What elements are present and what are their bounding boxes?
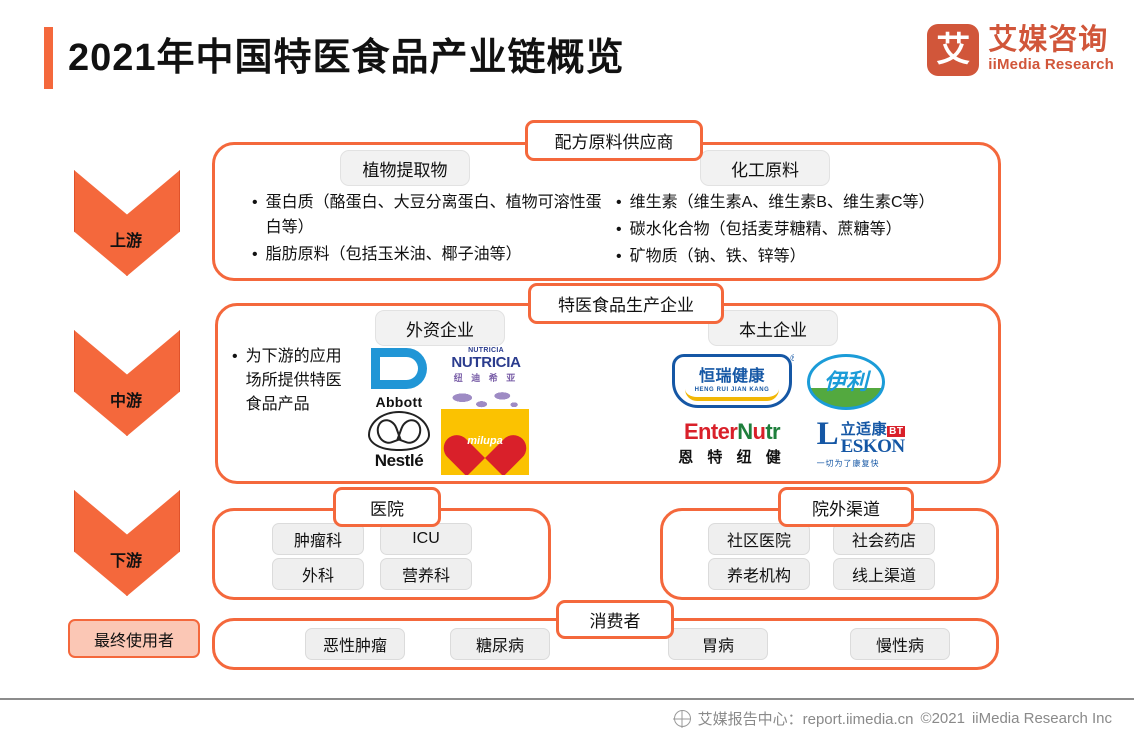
footer-content: 艾媒报告中心：report.iimedia.cn ©2021 iiMedia R… xyxy=(674,708,1112,729)
list-item: • 维生素（维生素A、维生素B、维生素C等） xyxy=(616,190,988,215)
yili-logo: 伊利 xyxy=(806,354,886,410)
chevron-down-icon xyxy=(74,490,180,596)
list-item-label: 脂肪原料（包括玉米油、椰子油等） xyxy=(266,242,604,267)
list-item[interactable]: 外科 xyxy=(272,558,364,590)
stage-chevron-downstream: 下游 xyxy=(74,490,178,594)
leskon-bt-badge: BT xyxy=(887,426,905,437)
leskon-name-cn-row: 立适康BT xyxy=(841,422,906,437)
registered-mark-icon: ® xyxy=(790,353,794,363)
list-item[interactable]: 糖尿病 xyxy=(450,628,550,660)
list-item: • 为下游的应用场所提供特医食品产品 xyxy=(232,345,342,417)
milupa-logo: milupa xyxy=(441,409,529,475)
leskon-slogan: 一切为了康复快 xyxy=(817,458,880,469)
abbott-logo: Abbott xyxy=(362,348,436,410)
bullet-dot-icon: • xyxy=(252,242,258,267)
upstream-badge: 配方原料供应商 xyxy=(525,120,703,161)
globe-map-icon xyxy=(449,386,523,412)
list-item: • 蛋白质（酪蛋白、大豆分离蛋白、植物可溶性蛋白等） xyxy=(252,190,604,240)
consumer-badge: 消费者 xyxy=(556,600,674,639)
brand-name-en: iiMedia Research xyxy=(988,56,1114,75)
page-title: 2021年中国特医食品产业链概览 xyxy=(68,28,625,88)
list-item[interactable]: 肿瘤科 xyxy=(272,523,364,555)
list-item[interactable]: 线上渠道 xyxy=(833,558,935,590)
stage-chevron-midstream: 中游 xyxy=(74,330,178,434)
bullet-dot-icon: • xyxy=(616,217,622,242)
yili-oval-icon: 伊利 xyxy=(807,354,885,410)
leskon-main-row: L 立适康BT ESKON xyxy=(817,422,906,456)
enternutr-logo: EnterNutr 恩 特 纽 健 xyxy=(662,418,802,470)
chevron-down-icon xyxy=(74,170,180,276)
list-item-label: 碳水化合物（包括麦芽糖精、蔗糖等） xyxy=(630,217,988,242)
stage-label-midstream: 中游 xyxy=(74,387,178,411)
heart-icon: milupa xyxy=(459,418,511,466)
hengrui-shield-icon: 恒瑞健康 HENG RUI JIAN KANG ® xyxy=(672,354,792,408)
leskon-initial: L xyxy=(817,422,839,448)
logo-mark-icon: 艾 xyxy=(927,24,979,76)
yili-name-cn: 伊利 xyxy=(824,371,868,393)
chevron-down-icon xyxy=(74,330,180,436)
list-item[interactable]: 营养科 xyxy=(380,558,472,590)
upstream-chemical-bullets: • 维生素（维生素A、维生素B、维生素C等） • 碳水化合物（包括麦芽糖精、蔗糖… xyxy=(616,190,988,271)
list-item-label: 蛋白质（酪蛋白、大豆分离蛋白、植物可溶性蛋白等） xyxy=(266,190,604,240)
list-item-label: 为下游的应用场所提供特医食品产品 xyxy=(246,345,342,417)
leskon-lockup: L 立适康BT ESKON 一切为了康复快 xyxy=(817,422,906,469)
milupa-tile: milupa xyxy=(441,409,529,475)
list-item-label: 矿物质（钠、铁、锌等） xyxy=(630,244,988,269)
enternutr-name-cn: 恩 特 纽 健 xyxy=(678,446,786,467)
hengrui-name-cn: 恒瑞健康 xyxy=(699,369,765,385)
nutricia-top-text: NUTRICIA xyxy=(468,347,504,354)
final-user-label: 最终使用者 xyxy=(68,619,200,658)
midstream-foreign-subhead: 外资企业 xyxy=(375,310,505,346)
list-item: • 脂肪原料（包括玉米油、椰子油等） xyxy=(252,242,604,267)
page-footer: 艾媒报告中心：report.iimedia.cn ©2021 iiMedia R… xyxy=(0,698,1134,737)
list-item[interactable]: 恶性肿瘤 xyxy=(305,628,405,660)
footer-site: 艾媒报告中心：report.iimedia.cn xyxy=(698,708,914,729)
list-item[interactable]: 社会药店 xyxy=(833,523,935,555)
nutricia-logo: NUTRICIA NUTRICIA 纽 迪 希 亚 xyxy=(444,344,528,414)
enternutr-lockup: EnterNutr 恩 特 纽 健 xyxy=(678,421,786,467)
bullet-dot-icon: • xyxy=(616,190,622,215)
midstream-badge: 特医食品生产企业 xyxy=(528,283,724,324)
milupa-wordmark: milupa xyxy=(459,435,511,447)
leskon-wordmark: ESKON xyxy=(841,437,906,456)
stage-label-downstream: 下游 xyxy=(74,547,178,571)
leskon-text-stack: 立适康BT ESKON xyxy=(841,422,906,456)
list-item-label: 维生素（维生素A、维生素B、维生素C等） xyxy=(630,190,988,215)
brand-logo-text: 艾媒咨询 iiMedia Research xyxy=(988,25,1114,74)
stage-chevron-upstream: 上游 xyxy=(74,170,178,274)
upstream-plant-subhead: 植物提取物 xyxy=(340,150,470,186)
bullet-dot-icon: • xyxy=(616,244,622,269)
brand-logo: 艾 艾媒咨询 iiMedia Research xyxy=(927,24,1114,76)
outside-channel-badge: 院外渠道 xyxy=(778,487,914,527)
list-item[interactable]: ICU xyxy=(380,523,472,555)
globe-icon xyxy=(674,710,691,727)
nestle-wordmark: Nestlé xyxy=(375,451,424,471)
infographic-page: 2021年中国特医食品产业链概览 艾 艾媒咨询 iiMedia Research… xyxy=(0,0,1134,737)
list-item[interactable]: 养老机构 xyxy=(708,558,810,590)
list-item[interactable]: 慢性病 xyxy=(850,628,950,660)
upstream-plant-bullets: • 蛋白质（酪蛋白、大豆分离蛋白、植物可溶性蛋白等） • 脂肪原料（包括玉米油、… xyxy=(252,190,604,269)
footer-company: iiMedia Research Inc xyxy=(972,710,1112,727)
hengrui-logo: 恒瑞健康 HENG RUI JIAN KANG ® xyxy=(670,352,794,410)
bullet-dot-icon: • xyxy=(252,190,258,240)
page-header: 2021年中国特医食品产业链概览 艾 艾媒咨询 iiMedia Research xyxy=(0,0,1134,100)
midstream-local-subhead: 本土企业 xyxy=(708,310,838,346)
list-item: • 矿物质（钠、铁、锌等） xyxy=(616,244,988,269)
abbott-mark-icon xyxy=(371,348,427,389)
leskon-name-cn: 立适康 xyxy=(841,421,888,438)
nestle-logo: Nestlé xyxy=(360,408,438,474)
midstream-bullet: • 为下游的应用场所提供特医食品产品 xyxy=(232,345,342,419)
list-item: • 碳水化合物（包括麦芽糖精、蔗糖等） xyxy=(616,217,988,242)
list-item[interactable]: 社区医院 xyxy=(708,523,810,555)
hospital-badge: 医院 xyxy=(333,487,441,527)
leskon-logo: L 立适康BT ESKON 一切为了康复快 xyxy=(806,418,916,472)
footer-copyright: ©2021 xyxy=(921,710,965,727)
bullet-dot-icon: • xyxy=(232,345,238,417)
brand-name-cn: 艾媒咨询 xyxy=(988,25,1114,55)
title-accent-bar xyxy=(44,27,53,89)
stage-label-upstream: 上游 xyxy=(74,227,178,251)
enternutr-wordmark: EnterNutr xyxy=(684,421,780,443)
nutricia-chinese-name: 纽 迪 希 亚 xyxy=(454,371,519,384)
nestle-birds-nest-icon xyxy=(368,411,430,451)
hengrui-swoosh-icon xyxy=(685,389,779,401)
upstream-chemical-subhead: 化工原料 xyxy=(700,150,830,186)
list-item[interactable]: 胃病 xyxy=(668,628,768,660)
nutricia-wordmark: NUTRICIA xyxy=(451,354,520,371)
